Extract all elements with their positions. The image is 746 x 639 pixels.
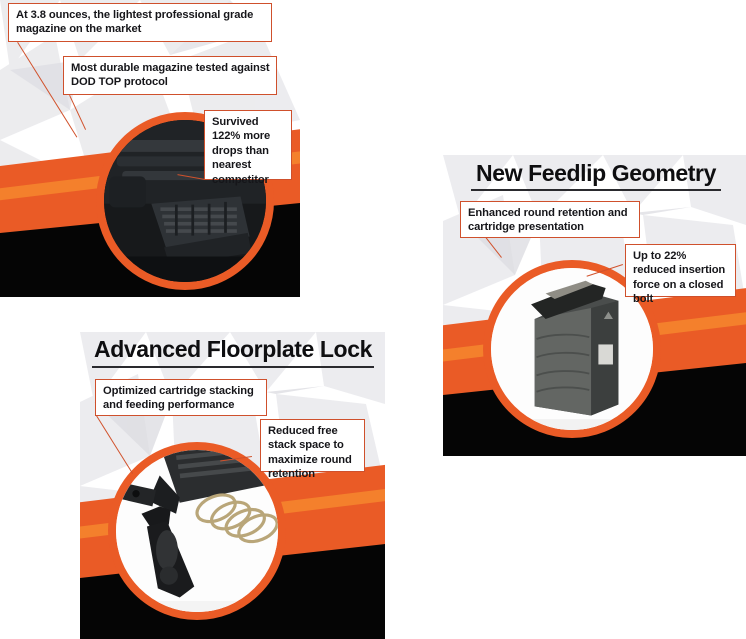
floorplate-panel: Advanced Floorplate Lock Optimized cartr…: [80, 332, 385, 639]
heading-rule: [92, 366, 374, 368]
free-stack-callout: Reduced free stack space to maximize rou…: [260, 419, 365, 472]
floorplate-heading-wrap: Advanced Floorplate Lock: [92, 336, 374, 372]
weight-callout: At 3.8 ounces, the lightest professional…: [8, 3, 272, 42]
feedlip-panel: New Feedlip Geometry Enhanced round rete…: [443, 155, 746, 456]
leader-line-durability: [69, 95, 86, 130]
floorplate-heading: Advanced Floorplate Lock: [92, 336, 374, 363]
feedlip-heading: New Feedlip Geometry: [471, 160, 721, 186]
round-retention-callout: Enhanced round retention and cartridge p…: [460, 201, 640, 238]
feedlip-heading-wrap: New Feedlip Geometry: [471, 160, 721, 196]
leader-line-cartridge-stacking: [95, 414, 133, 474]
durability-panel: At 3.8 ounces, the lightest professional…: [0, 0, 300, 297]
floorplate-parts-photo: [116, 450, 278, 612]
insertion-force-callout: Up to 22% reduced insertion force on a c…: [625, 244, 736, 297]
heading-rule: [471, 189, 721, 191]
drop-test-callout: Survived 122% more drops than nearest co…: [204, 110, 292, 180]
durability-callout: Most durable magazine tested against DOD…: [63, 56, 277, 95]
cartridge-stacking-callout: Optimized cartridge stacking and feeding…: [95, 379, 267, 416]
